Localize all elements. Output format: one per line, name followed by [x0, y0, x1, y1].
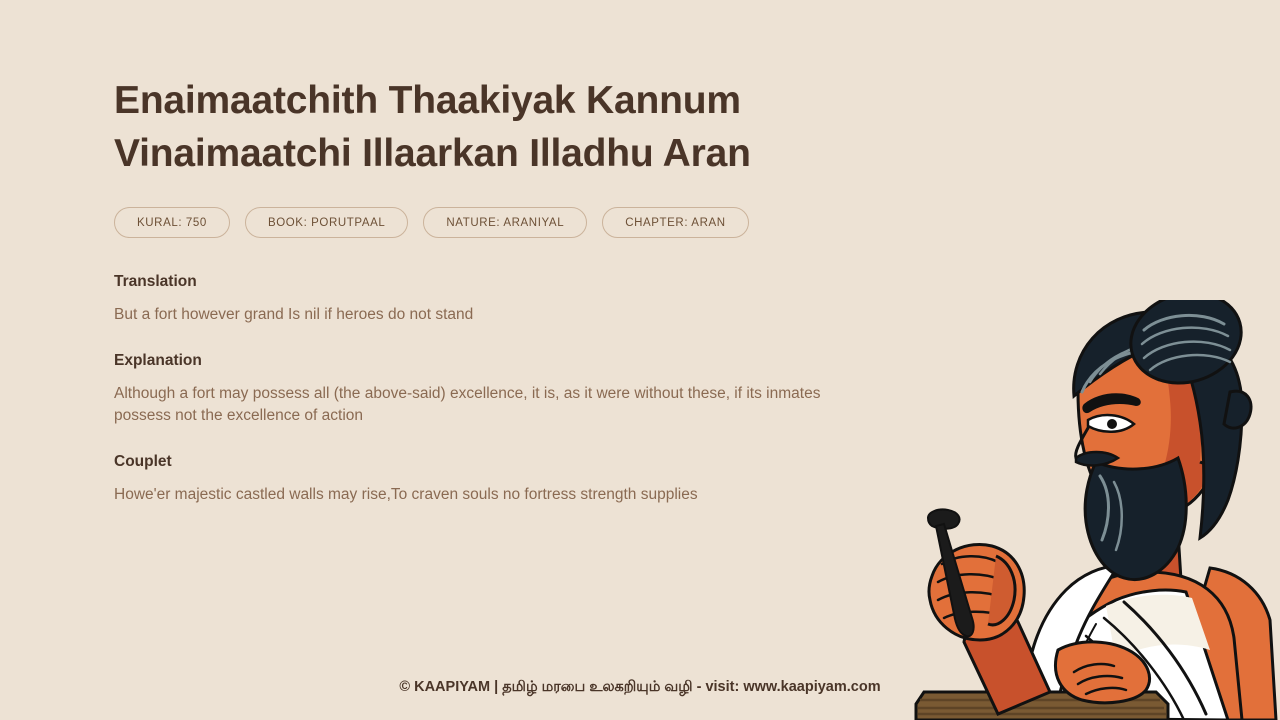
section-couplet: Couplet Howe'er majestic castled walls m…: [114, 453, 944, 506]
page-title: Enaimaatchith Thaakiyak Kannum Vinaimaat…: [114, 74, 944, 180]
badge-book[interactable]: BOOK: PORUTPAAL: [245, 207, 408, 238]
section-title-explanation: Explanation: [114, 352, 944, 370]
section-body-couplet: Howe'er majestic castled walls may rise,…: [114, 484, 859, 506]
badge-nature[interactable]: NATURE: ARANIYAL: [423, 207, 587, 238]
kural-card: Enaimaatchith Thaakiyak Kannum Vinaimaat…: [0, 0, 1280, 720]
section-body-translation: But a fort however grand Is nil if heroe…: [114, 304, 859, 326]
metadata-badge-row: KURAL: 750 BOOK: PORUTPAAL NATURE: ARANI…: [114, 207, 944, 238]
section-title-couplet: Couplet: [114, 453, 944, 471]
badge-kural-number[interactable]: KURAL: 750: [114, 207, 230, 238]
kural-content: Enaimaatchith Thaakiyak Kannum Vinaimaat…: [114, 74, 944, 506]
footer-credit: © KAAPIYAM | தமிழ் மரபை உலகறியும் வழி - …: [0, 679, 1280, 697]
section-translation: Translation But a fort however grand Is …: [114, 273, 944, 326]
badge-chapter[interactable]: CHAPTER: ARAN: [602, 207, 748, 238]
section-body-explanation: Although a fort may possess all (the abo…: [114, 383, 859, 427]
section-explanation: Explanation Although a fort may possess …: [114, 352, 944, 427]
section-title-translation: Translation: [114, 273, 944, 291]
thiruvalluvar-illustration: [910, 300, 1280, 720]
